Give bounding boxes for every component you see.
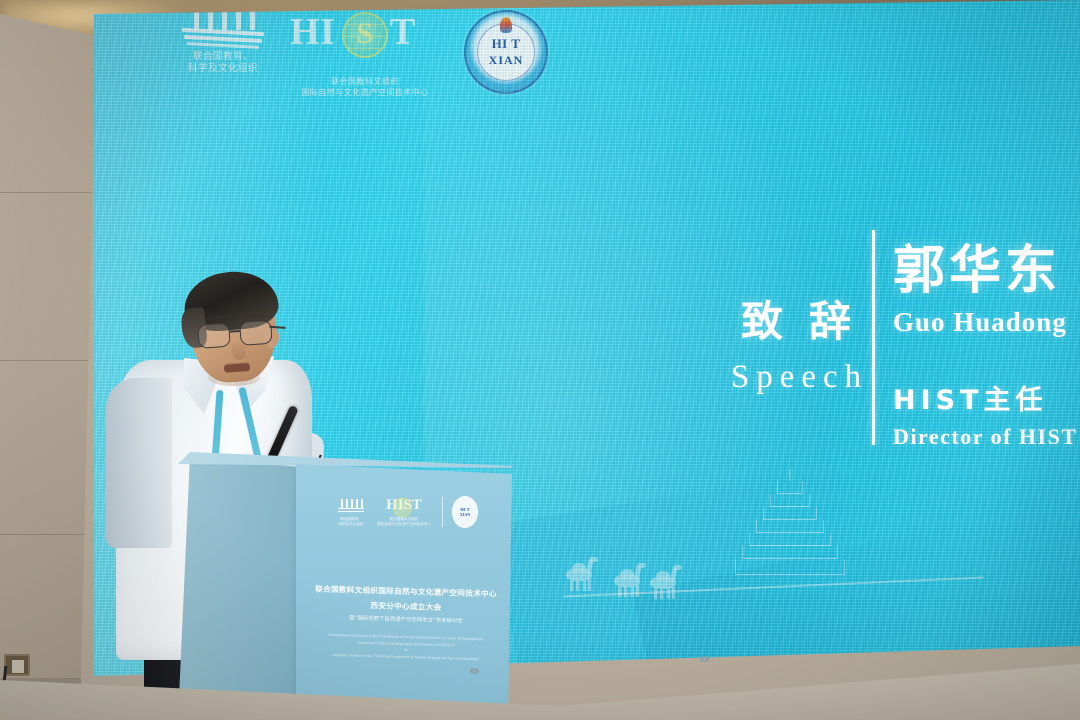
seal-line1: HI T	[492, 36, 521, 52]
speech-heading: 致辞 Speech	[715, 288, 877, 396]
seal-line2: XIAN	[489, 53, 524, 68]
lectern-front-panel: 联合国教育、 科学及文化组织 HIST 联合国教科文组织 国际自然与文化遗产空间…	[296, 460, 512, 720]
hist-wordmark: H I T S	[290, 6, 440, 62]
pagoda-graphic	[730, 471, 850, 586]
speaker-name-cn: 郭华东	[893, 228, 1078, 303]
lectern-unesco-caption: 联合国教育、 科学及文化组织	[336, 517, 366, 527]
conference-stage-photo: 联合国教育、 科学及文化组织 H I T S 联合国教科文组织 国际自然与文化遗…	[0, 0, 1080, 720]
lectern-side-panel	[178, 455, 298, 720]
lectern-hist-caption: 联合国教科文组织 国际自然与文化遗产空间技术中心	[375, 517, 433, 527]
hist-globe-icon: S	[342, 12, 388, 58]
speech-heading-en: Speech	[715, 359, 877, 396]
vertical-divider	[872, 230, 875, 445]
left-wall	[0, 14, 96, 720]
hist-logo: H I T S 联合国教科文组织 国际自然与文化遗产空间技术中心	[290, 6, 440, 98]
hist-xian-seal-icon: HI T XIAN	[452, 496, 478, 528]
speech-heading-cn: 致辞	[715, 288, 877, 349]
speaker-name-en: Guo Huadong	[893, 307, 1078, 338]
left-shoulder	[106, 378, 172, 548]
hist-logo-caption: 联合国教科文组织 国际自然与文化遗产空间技术中心	[290, 76, 440, 98]
lectern-line-3: 暨“国际视野下自然遗产与空间考古”学术研讨会	[302, 613, 510, 628]
lectern-unesco-logo: 联合国教育、 科学及文化组织	[336, 498, 366, 527]
lectern-hist-logo: HIST 联合国教科文组织 国际自然与文化遗产空间技术中心	[375, 497, 433, 527]
speaker-title-en: Director of HIST	[893, 424, 1078, 450]
screen-header-logo-row: 联合国教育、 科学及文化组织 H I T S 联合国教科文组织 国际自然与文化遗…	[180, 2, 548, 98]
lectern-line-1: 联合国教科文组织国际自然与文化遗产空间技术中心	[302, 583, 510, 600]
lectern-line-2: 西安分中心成立大会	[302, 598, 510, 615]
lectern-seal-line2: XIAN	[460, 512, 470, 517]
unesco-logo-caption: 联合国教育、 科学及文化组织	[180, 51, 266, 75]
hist-xian-seal: HI T XIAN	[464, 10, 548, 94]
lectern-logo-separator	[442, 497, 443, 527]
lectern-event-text: 联合国教科文组织国际自然与文化遗产空间技术中心 西安分中心成立大会 暨“国际视野…	[302, 586, 510, 660]
hist-globe-icon	[393, 498, 412, 517]
lectern-logo-row: 联合国教育、 科学及文化组织 HIST 联合国教科文组织 国际自然与文化遗产空间…	[318, 496, 496, 528]
speaker-title-cn: HIST主任	[893, 378, 1078, 417]
lectern-line-english: Establishment Ceremony of the Xi'an Bran…	[302, 631, 510, 663]
hist-xian-seal-icon: HI T XIAN	[464, 10, 548, 94]
chin	[208, 370, 260, 386]
seal-flame-icon	[500, 17, 512, 33]
speaker-name-block: 郭华东 Guo Huadong HIST主任 Director of HIST	[893, 228, 1078, 450]
unesco-temple-icon	[338, 498, 364, 514]
unesco-logo: 联合国教育、 科学及文化组织	[180, 2, 266, 75]
